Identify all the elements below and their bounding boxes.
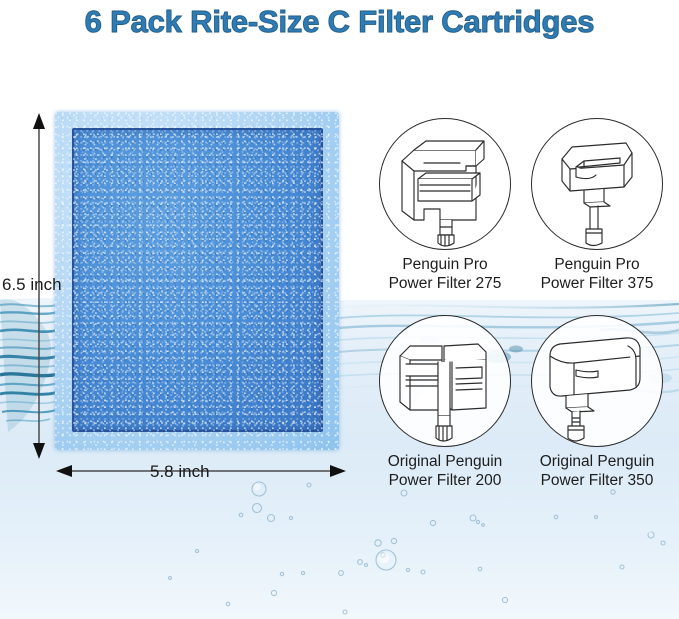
compatibility-label-line1: Penguin Pro (370, 255, 520, 274)
compatibility-label-line2: Power Filter 375 (522, 274, 672, 293)
page-title: 6 Pack Rite-Size C Filter Cartridges (0, 4, 679, 40)
compatibility-item-275: Penguin Pro Power Filter 275 (370, 118, 520, 293)
compatibility-label-line1: Original Penguin (522, 452, 672, 471)
product-infographic: 6 Pack Rite-Size C Filter Cartridges 6.5… (0, 0, 679, 619)
power-filter-200-icon (379, 315, 511, 447)
compatibility-label-line2: Power Filter 275 (370, 274, 520, 293)
compatibility-label-line2: Power Filter 200 (370, 471, 520, 490)
compatibility-item-350: Original Penguin Power Filter 350 (522, 315, 672, 490)
filter-foam-border (55, 112, 339, 450)
width-dimension-label: 5.8 inch (147, 462, 213, 482)
power-filter-375-icon (531, 118, 663, 250)
compatibility-item-375: Penguin Pro Power Filter 375 (522, 118, 672, 293)
compatibility-label-line1: Original Penguin (370, 452, 520, 471)
height-dimension-label: 6.5 inch (2, 275, 62, 295)
compatibility-label-line2: Power Filter 350 (522, 471, 672, 490)
compatibility-item-200: Original Penguin Power Filter 200 (370, 315, 520, 490)
filter-media-pad (72, 128, 323, 432)
filter-cartridge-image (55, 112, 339, 450)
power-filter-350-icon (531, 315, 663, 447)
compatibility-label-line1: Penguin Pro (522, 255, 672, 274)
power-filter-275-icon (379, 118, 511, 250)
